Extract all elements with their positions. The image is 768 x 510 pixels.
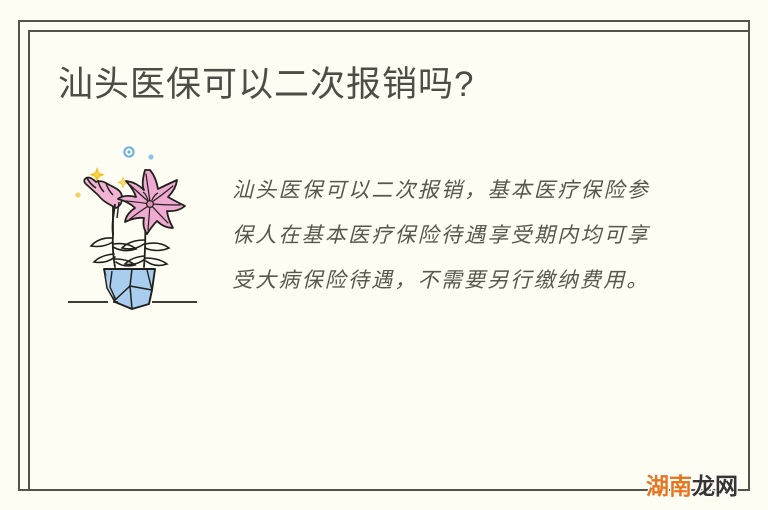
blue-faceted-vase (104, 269, 155, 309)
article-body: 汕头医保可以二次报销，基本医疗保险参保人在基本医疗保险待遇享受期内均可享受大病保… (232, 168, 650, 303)
watermark-part-3: 网 (715, 474, 738, 500)
site-watermark: 湖南龙网 (646, 473, 738, 501)
watermark-part-1: 湖南 (646, 474, 692, 500)
page-title: 汕头医保可以二次报销吗? (58, 62, 474, 108)
watermark-part-2: 龙 (692, 474, 715, 500)
lily-side-view (84, 178, 122, 236)
lily-front-view (118, 170, 185, 234)
flower-vase-illustration (66, 140, 211, 310)
article-card: 汕头医保可以二次报销吗? (0, 0, 768, 510)
